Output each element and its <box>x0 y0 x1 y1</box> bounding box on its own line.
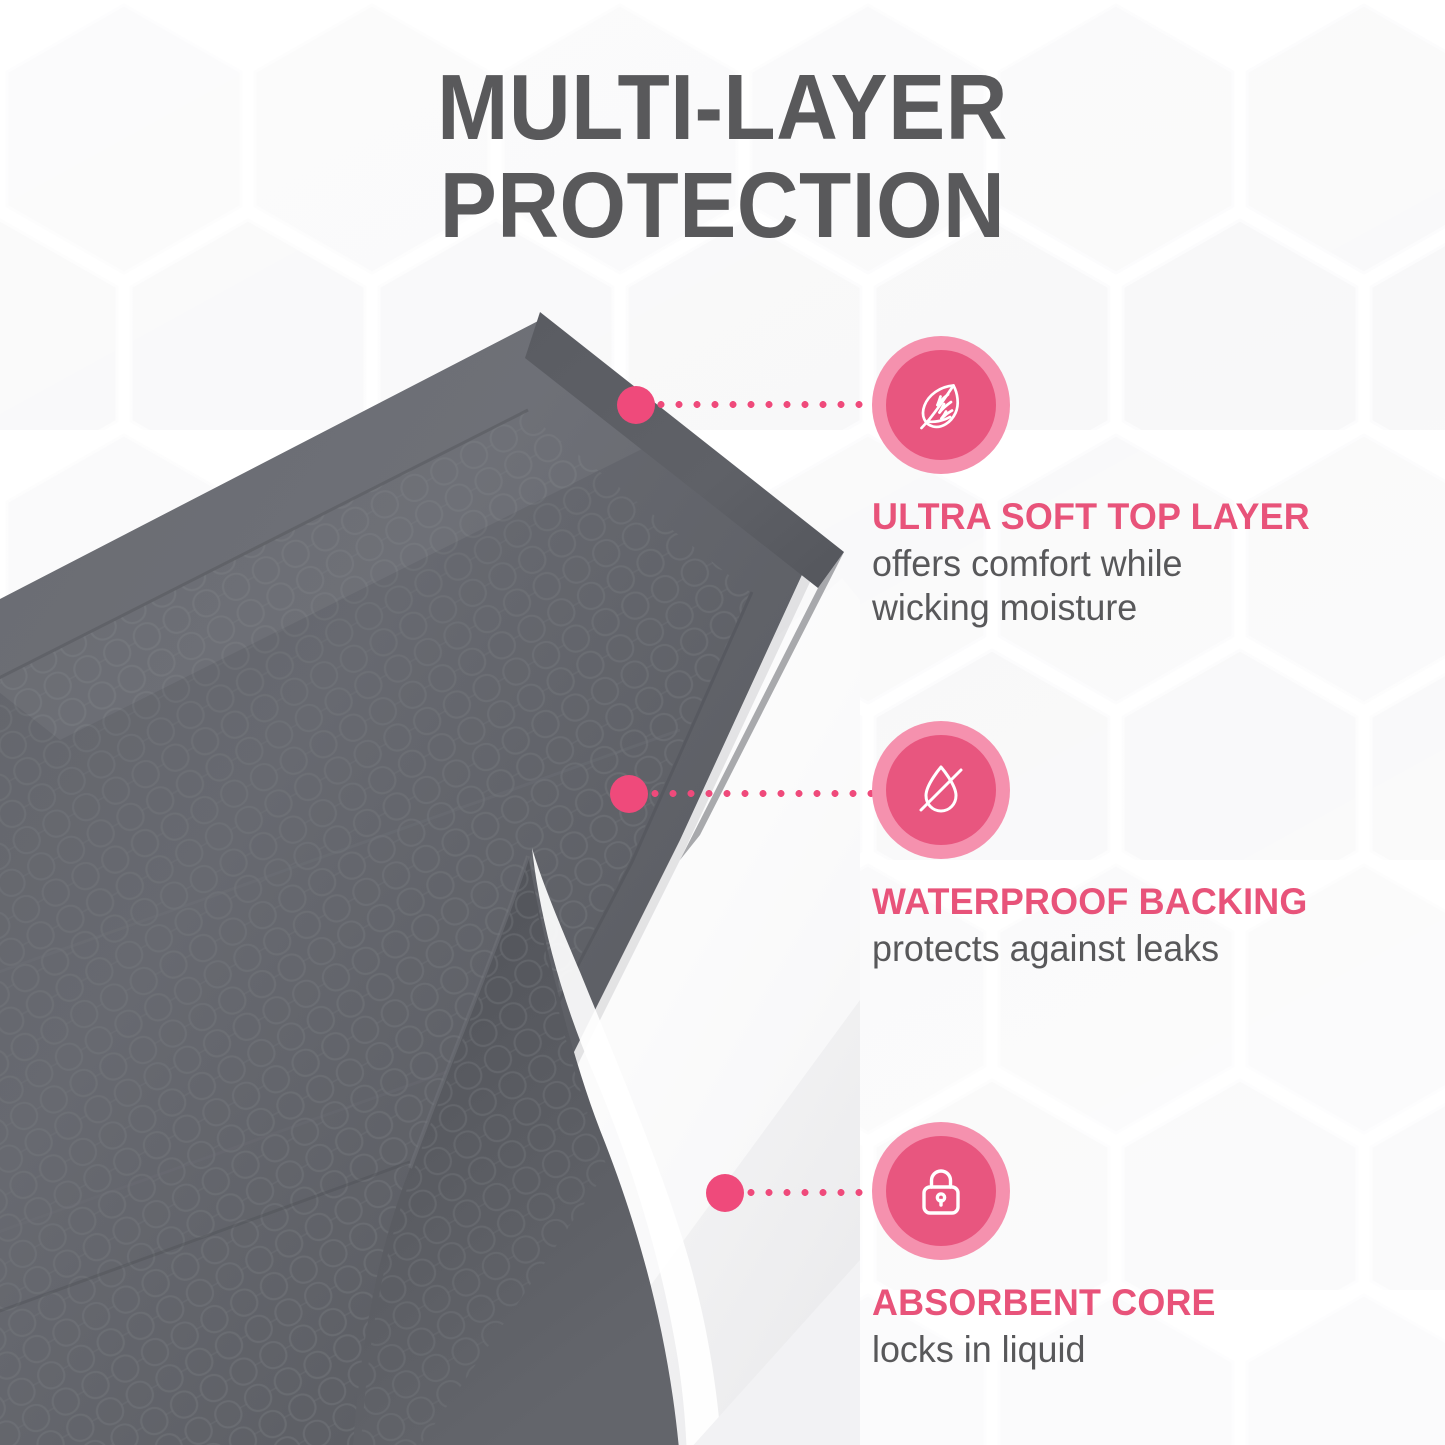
feature-1-subtext: offers comfort while wicking moisture <box>872 542 1289 630</box>
callout-dotted-line-2 <box>646 789 888 798</box>
page-title-line-1: MULTI-LAYER <box>58 58 1387 156</box>
feature-3-icon-badge <box>872 1122 1010 1260</box>
feature-3-heading: ABSORBENT CORE <box>872 1282 1415 1324</box>
callout-marker-dot-1 <box>617 386 655 424</box>
feature-2-icon-badge <box>872 721 1010 859</box>
callout-dotted-line-3 <box>742 1188 888 1197</box>
feature-ultra-soft-top-layer: ULTRA SOFT TOP LAYER offers comfort whil… <box>872 336 1432 630</box>
feature-3-subtext: locks in liquid <box>872 1328 1415 1372</box>
lock-icon <box>909 1159 973 1223</box>
icon-core <box>886 1136 996 1246</box>
feature-2-subtext: protects against leaks <box>872 927 1415 971</box>
callout-marker-dot-2 <box>610 775 648 813</box>
feature-1-icon-badge <box>872 336 1010 474</box>
page-title: MULTI-LAYER PROTECTION <box>0 58 1445 254</box>
callout-marker-dot-3 <box>706 1174 744 1212</box>
page-title-line-2: PROTECTION <box>58 156 1387 254</box>
feather-icon <box>907 371 975 439</box>
feature-waterproof-backing: WATERPROOF BACKING protects against leak… <box>872 721 1432 971</box>
water-drop-crossed-icon <box>908 757 974 823</box>
feature-2-heading: WATERPROOF BACKING <box>872 881 1415 923</box>
icon-core <box>886 350 996 460</box>
infographic-page: MULTI-LAYER PROTECTION <box>0 0 1445 1445</box>
feature-absorbent-core: ABSORBENT CORE locks in liquid <box>872 1122 1432 1372</box>
icon-core <box>886 735 996 845</box>
callout-dotted-line-1 <box>652 400 888 409</box>
feature-1-heading: ULTRA SOFT TOP LAYER <box>872 496 1415 538</box>
product-image-bed-pad <box>0 300 860 1445</box>
